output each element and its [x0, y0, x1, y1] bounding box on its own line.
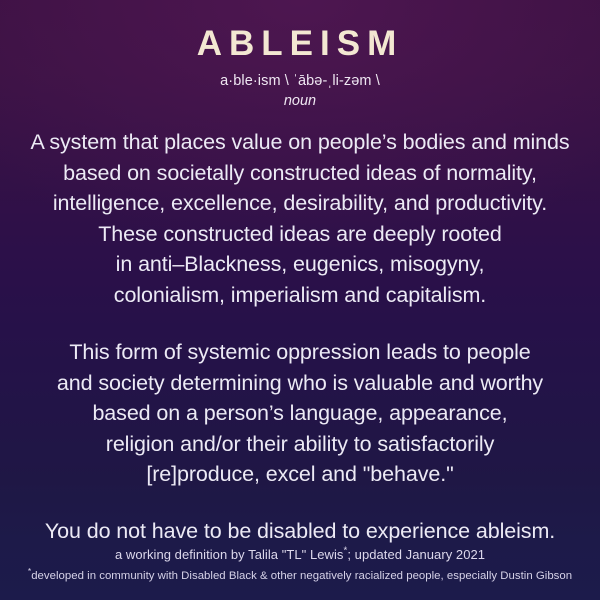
closing-statement: You do not have to be disabled to experi… — [12, 516, 588, 547]
definition-line: [re]produce, excel and "behave." — [12, 459, 588, 490]
footer-credits: a working definition by Talila "TL" Lewi… — [12, 546, 588, 598]
credit-date-text: ; updated January 2021 — [347, 547, 485, 562]
definition-line: and society determining who is valuable … — [12, 368, 588, 399]
part-of-speech: noun — [284, 92, 316, 110]
pronunciation-line: a·ble·ism \ ˈābə-ˌli-zəm \ — [220, 72, 380, 90]
definition-paragraph-1: A system that places value on people’s b… — [12, 127, 588, 310]
definition-line: This form of systemic oppression leads t… — [12, 337, 588, 368]
definition-line: based on a person’s language, appearance… — [12, 398, 588, 429]
definition-line: colonialism, imperialism and capitalism. — [12, 280, 588, 311]
definition-line: religion and/or their ability to satisfa… — [12, 429, 588, 460]
definition-paragraph-2: This form of systemic oppression leads t… — [12, 337, 588, 490]
closing-line: You do not have to be disabled to experi… — [12, 516, 588, 547]
page-title: ABLEISM — [197, 26, 404, 61]
credit-line-community: *developed in community with Disabled Bl… — [12, 568, 588, 585]
definition-line: A system that places value on people’s b… — [12, 127, 588, 158]
credit-line-author: a working definition by Talila "TL" Lewi… — [12, 546, 588, 565]
definition-line: These constructed ideas are deeply roote… — [12, 219, 588, 250]
credit-community-text: developed in community with Disabled Bla… — [31, 570, 572, 582]
credit-author-text: a working definition by Talila "TL" Lewi… — [115, 547, 344, 562]
ableism-definition-card: ABLEISM a·ble·ism \ ˈābə-ˌli-zəm \ noun … — [0, 0, 600, 600]
definition-line: in anti–Blackness, eugenics, misogyny, — [12, 249, 588, 280]
definition-line: based on societally constructed ideas of… — [12, 158, 588, 189]
definition-line: intelligence, excellence, desirability, … — [12, 188, 588, 219]
